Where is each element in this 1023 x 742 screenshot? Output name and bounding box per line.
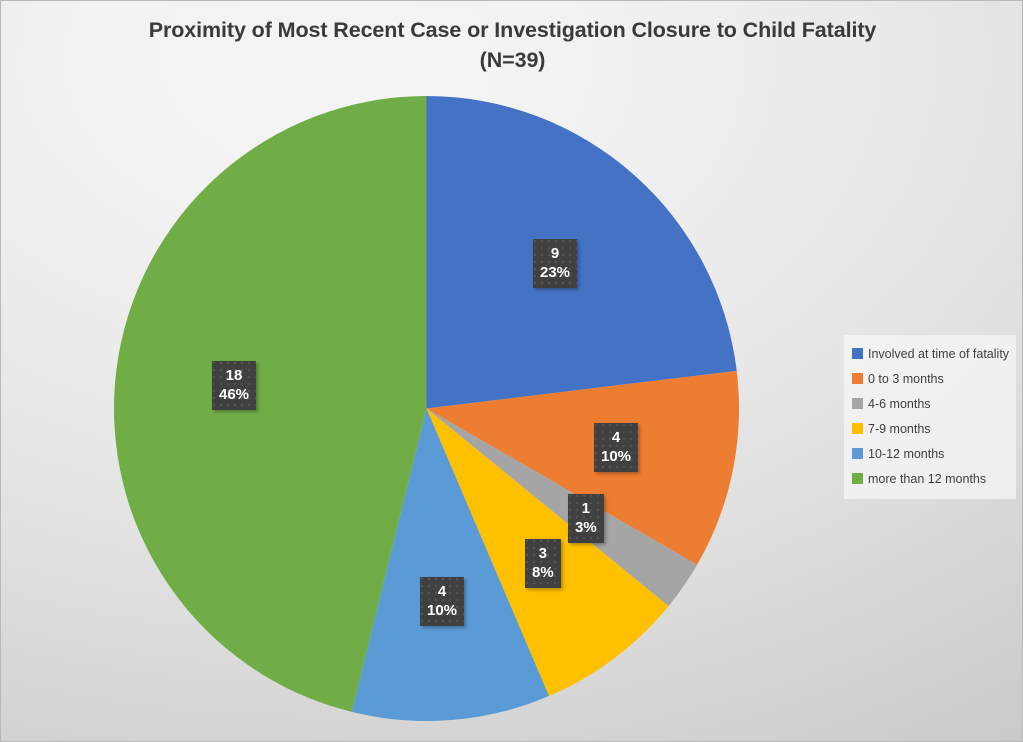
legend-color-swatch-icon — [852, 473, 863, 484]
pie-data-label-percent: 10% — [601, 447, 631, 466]
chart-title-line-2: (N=39) — [61, 45, 964, 75]
legend-item-label: 4-6 months — [868, 397, 931, 411]
pie-chart-canvas: Proximity of Most Recent Case or Investi… — [0, 0, 1023, 742]
pie-data-label-value: 18 — [219, 366, 249, 385]
pie-data-label-value: 4 — [601, 428, 631, 447]
legend-item[interactable]: 10-12 months — [852, 441, 1012, 466]
legend-item-list: Involved at time of fatality0 to 3 month… — [852, 341, 1012, 491]
pie-plot-area — [114, 94, 739, 723]
pie-data-label[interactable]: 923% — [533, 239, 577, 288]
pie-data-label[interactable]: 1846% — [212, 361, 256, 410]
legend-item[interactable]: 0 to 3 months — [852, 366, 1012, 391]
legend-item[interactable]: 4-6 months — [852, 391, 1012, 416]
pie-data-label[interactable]: 410% — [420, 577, 464, 626]
legend-item-label: Involved at time of fatality — [868, 347, 1009, 361]
pie-data-label[interactable]: 410% — [594, 423, 638, 472]
legend-color-swatch-icon — [852, 373, 863, 384]
legend-item-label: 10-12 months — [868, 447, 944, 461]
legend-item-label: more than 12 months — [868, 472, 986, 486]
chart-legend: Involved at time of fatality0 to 3 month… — [844, 335, 1016, 499]
pie-data-label-percent: 8% — [532, 563, 554, 582]
chart-title: Proximity of Most Recent Case or Investi… — [61, 15, 964, 75]
pie-data-label[interactable]: 38% — [525, 539, 561, 588]
pie-slice[interactable] — [427, 96, 737, 409]
legend-item-label: 7-9 months — [868, 422, 931, 436]
pie-data-label-percent: 3% — [575, 518, 597, 537]
pie-data-label-value: 1 — [575, 499, 597, 518]
legend-color-swatch-icon — [852, 398, 863, 409]
pie-data-label-percent: 23% — [540, 263, 570, 282]
pie-slice-group — [114, 96, 739, 721]
legend-color-swatch-icon — [852, 423, 863, 434]
pie-data-label-percent: 46% — [219, 385, 249, 404]
legend-item-label: 0 to 3 months — [868, 372, 944, 386]
pie-data-label-value: 9 — [540, 244, 570, 263]
pie-data-label-value: 3 — [532, 544, 554, 563]
legend-item[interactable]: more than 12 months — [852, 466, 1012, 491]
chart-title-line-1: Proximity of Most Recent Case or Investi… — [149, 18, 877, 42]
legend-item[interactable]: Involved at time of fatality — [852, 341, 1012, 366]
pie-svg — [114, 94, 739, 723]
pie-data-label-percent: 10% — [427, 601, 457, 620]
pie-data-label-value: 4 — [427, 582, 457, 601]
legend-color-swatch-icon — [852, 448, 863, 459]
pie-data-label[interactable]: 13% — [568, 494, 604, 543]
legend-item[interactable]: 7-9 months — [852, 416, 1012, 441]
legend-color-swatch-icon — [852, 348, 863, 359]
